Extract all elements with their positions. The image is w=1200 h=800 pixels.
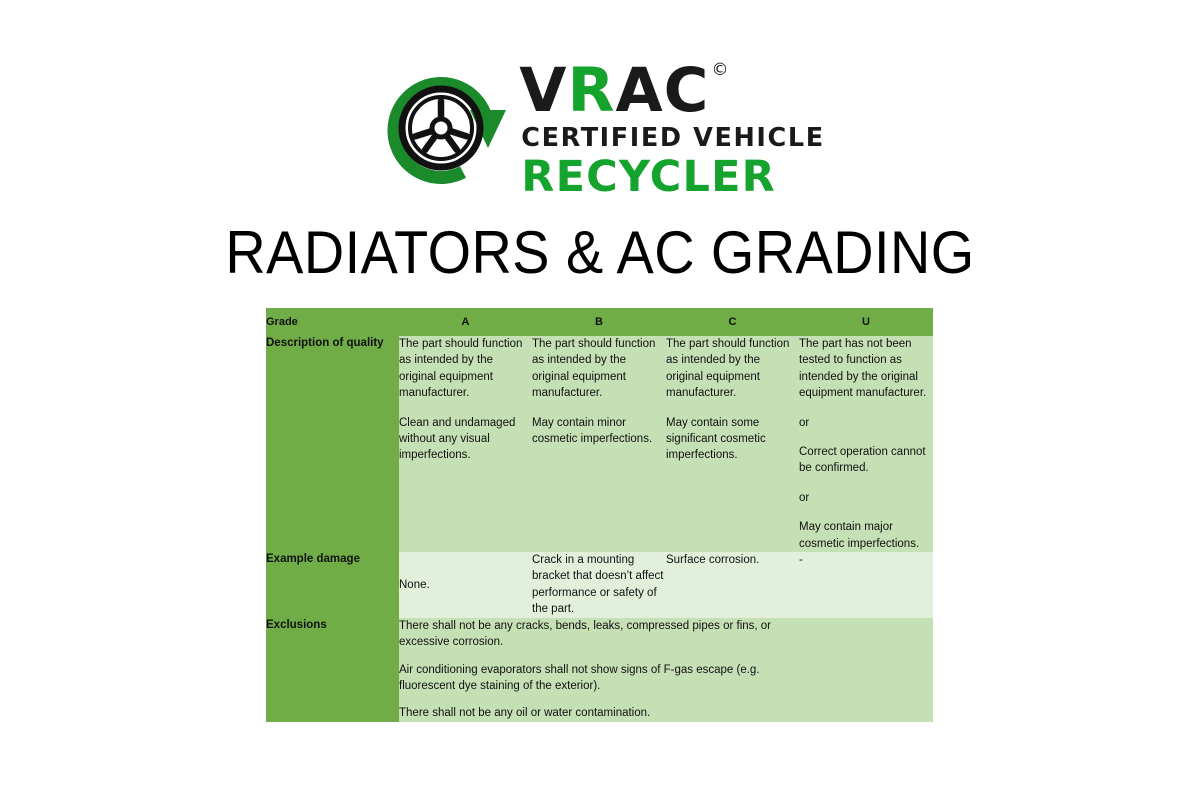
cell-example-damage-c: Surface corrosion.	[666, 552, 799, 618]
cell-paragraph: -	[799, 552, 933, 568]
brand-letter-v: V	[519, 60, 567, 121]
cell-paragraph: The part should function as intended by …	[666, 336, 799, 402]
row-label-description-of-quality: Description of quality	[266, 336, 399, 552]
cell-description-c: The part should function as intended by …	[666, 336, 799, 552]
table-row: Description of quality The part should f…	[266, 336, 933, 552]
cell-description-a: The part should function as intended by …	[399, 336, 532, 552]
cell-paragraph: May contain major cosmetic imperfections…	[799, 519, 933, 552]
grading-table: Grade A B C U Description of quality The…	[266, 308, 933, 722]
cell-paragraph: May contain some significant cosmetic im…	[666, 415, 799, 464]
brand-wordmark: V R AC ©	[519, 60, 729, 121]
row-label-example-damage: Example damage	[266, 552, 399, 618]
cell-paragraph: Air conditioning evaporators shall not s…	[399, 662, 799, 695]
brand-logo: V R AC © CERTIFIED VEHICLE RECYCLER	[0, 58, 1200, 199]
cell-paragraph: or	[799, 490, 933, 506]
brand-tagline: CERTIFIED VEHICLE	[521, 126, 824, 152]
cell-description-b: The part should function as intended by …	[532, 336, 666, 552]
cell-paragraph: There shall not be any cracks, bends, le…	[399, 618, 799, 651]
table-row: Example damage None. Crack in a mounting…	[266, 552, 933, 618]
cell-example-damage-u: -	[799, 552, 933, 618]
cell-paragraph: The part should function as intended by …	[532, 336, 666, 402]
row-label-exclusions: Exclusions	[266, 618, 399, 722]
cell-paragraph: The part should function as intended by …	[399, 336, 532, 402]
cell-paragraph: Surface corrosion.	[666, 552, 799, 568]
cell-paragraph: Correct operation cannot be confirmed.	[799, 444, 933, 477]
table-header-row: Grade A B C U	[266, 308, 933, 336]
cell-paragraph: May contain minor cosmetic imperfections…	[532, 415, 666, 448]
brand-wordmark-recycler: RECYCLER	[521, 156, 776, 199]
cell-exclusions-abc: There shall not be any cracks, bends, le…	[399, 618, 799, 722]
brand-letter-r: R	[567, 60, 615, 121]
cell-paragraph: or	[799, 415, 933, 431]
cell-paragraph: Crack in a mounting bracket that doesn’t…	[532, 552, 666, 618]
cell-paragraph: The part has not been tested to function…	[799, 336, 933, 402]
column-header-grade: Grade	[266, 308, 399, 336]
cell-paragraph: There shall not be any oil or water cont…	[399, 705, 799, 721]
copyright-icon: ©	[711, 62, 729, 79]
vrac-recycling-wheel-logo	[375, 62, 513, 194]
cell-example-damage-b: Crack in a mounting bracket that doesn’t…	[532, 552, 666, 618]
column-header-u: U	[799, 308, 933, 336]
cell-description-u: The part has not been tested to function…	[799, 336, 933, 552]
column-header-c: C	[666, 308, 799, 336]
cell-paragraph: Clean and undamaged without any visual i…	[399, 415, 532, 464]
cell-exclusions-u	[799, 618, 933, 722]
column-header-b: B	[532, 308, 666, 336]
page-title: RADIATORS & AC GRADING	[42, 218, 1158, 288]
table-row: Exclusions There shall not be any cracks…	[266, 618, 933, 722]
cell-example-damage-a: None.	[399, 552, 532, 618]
brand-letters-ac: AC	[615, 60, 709, 121]
column-header-a: A	[399, 308, 532, 336]
cell-paragraph: None.	[399, 577, 532, 593]
